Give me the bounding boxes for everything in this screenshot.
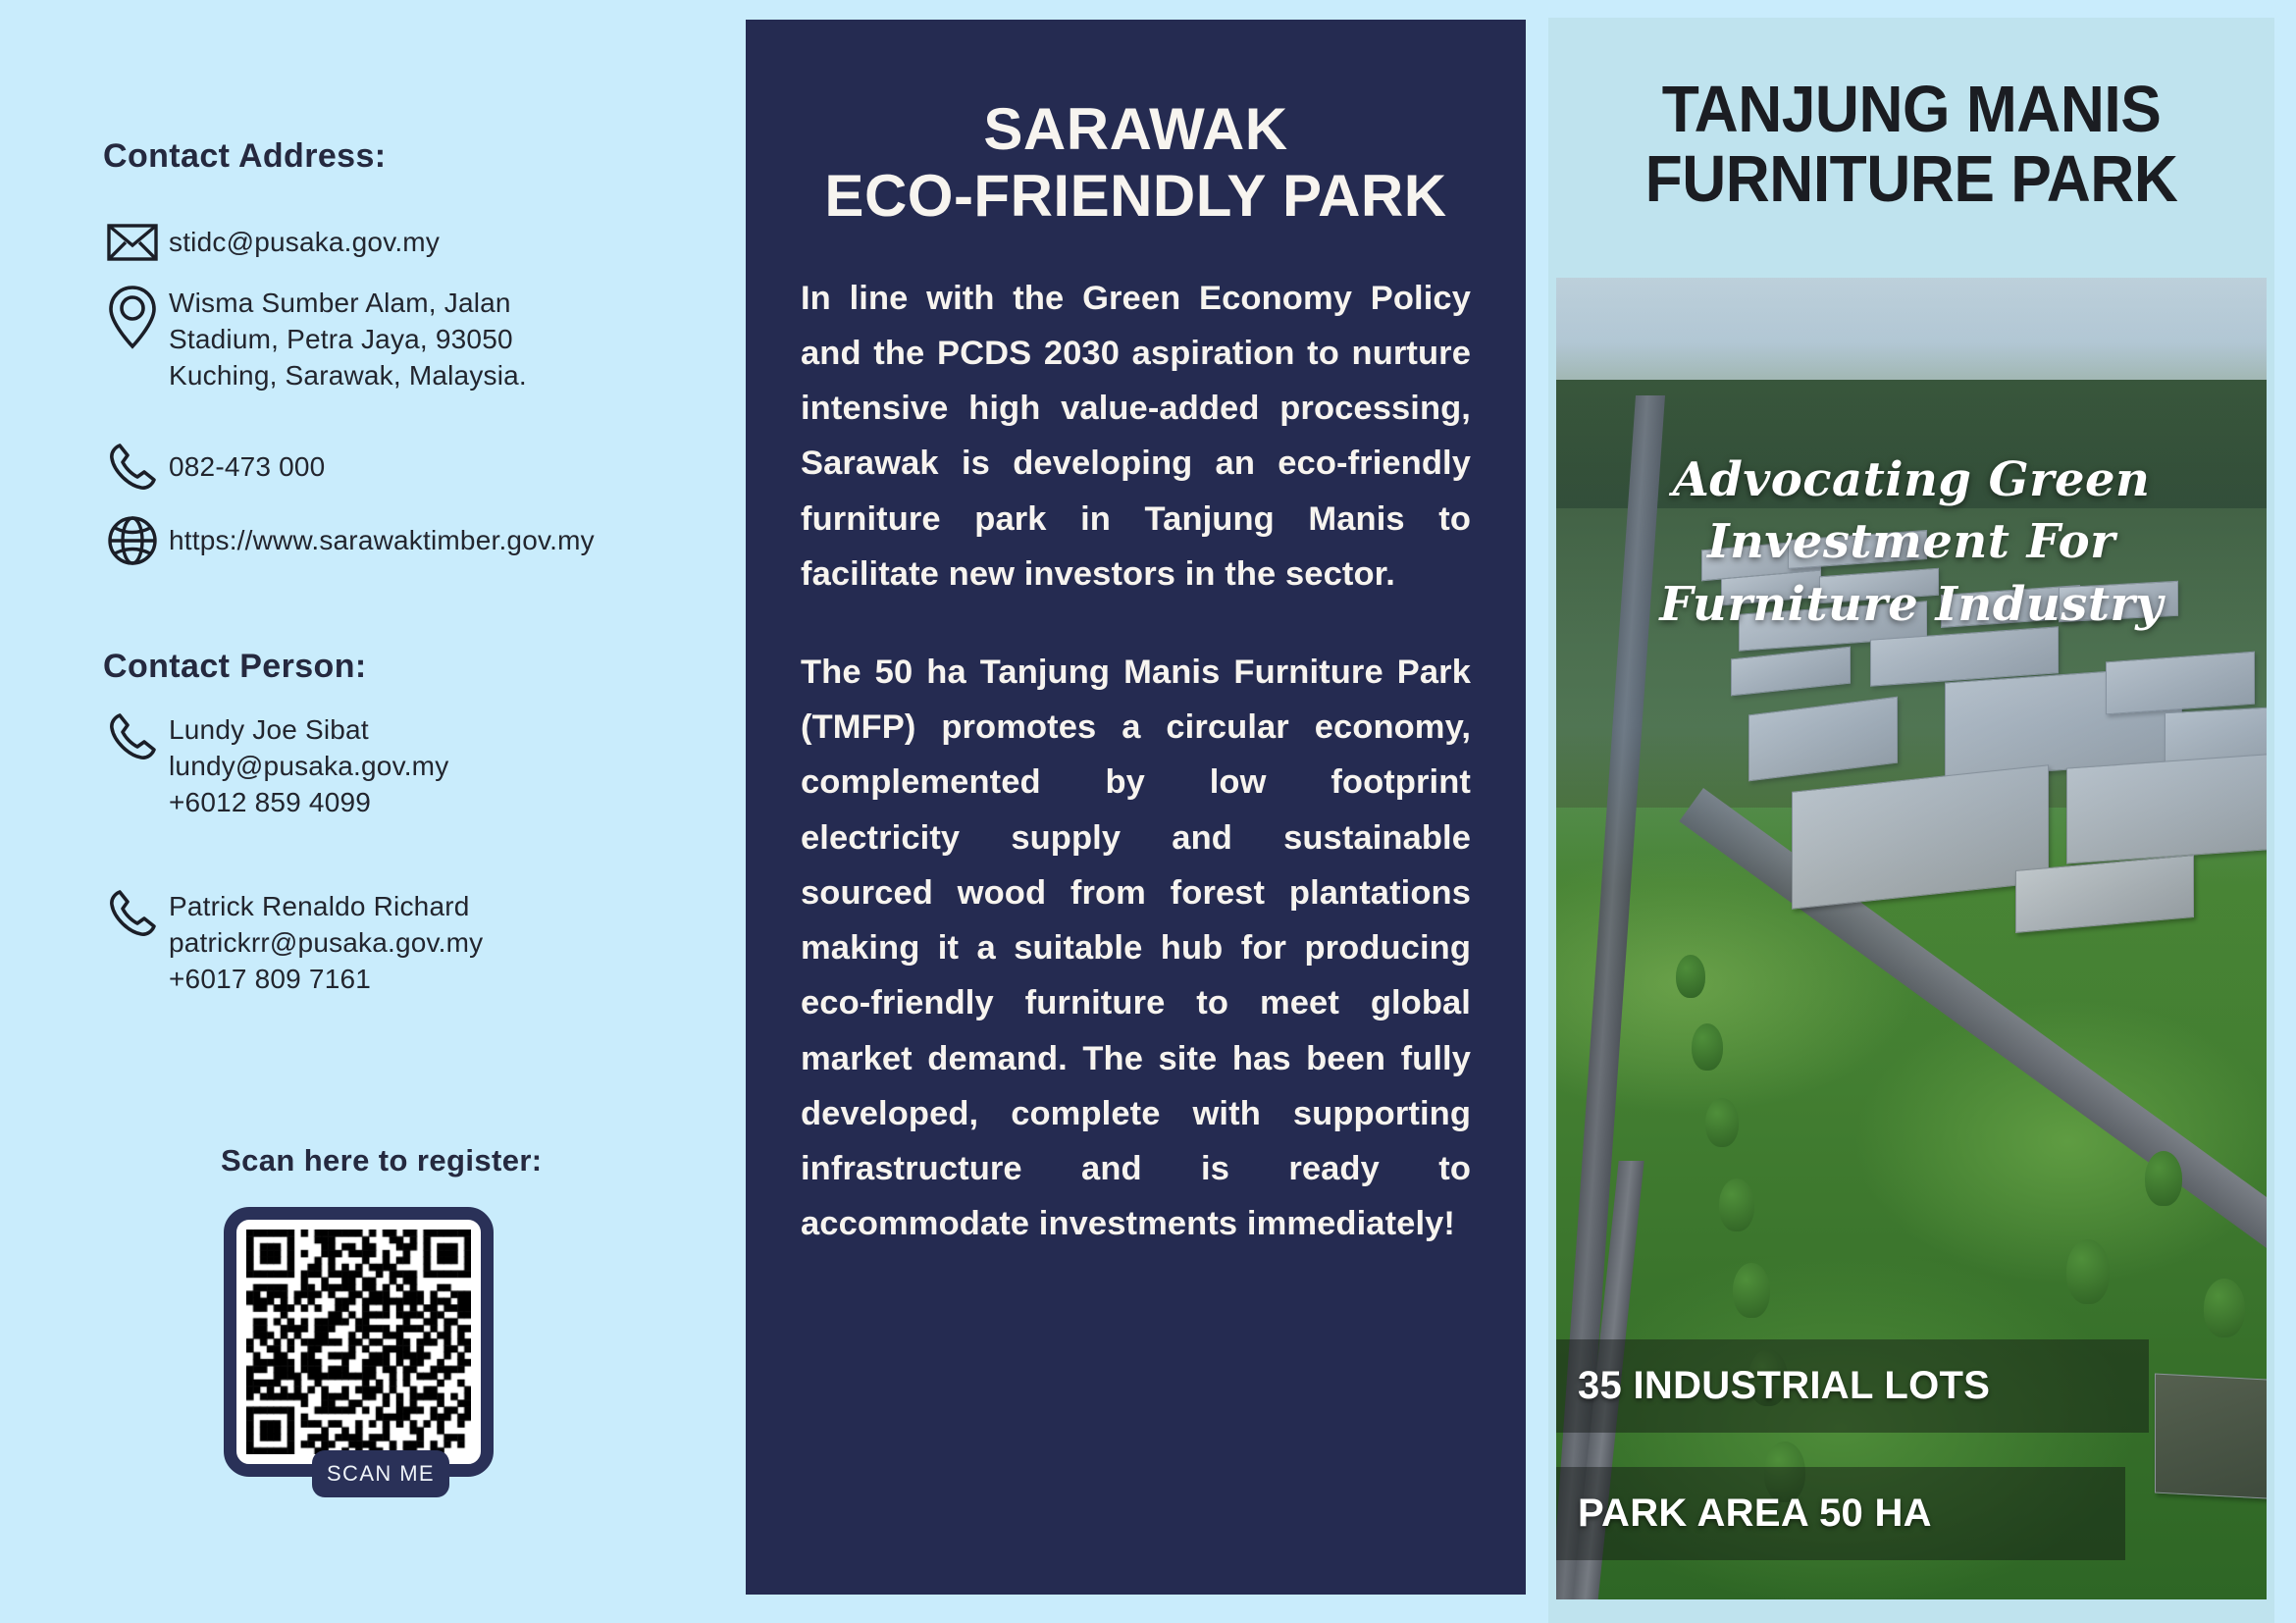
left-contact-panel: Contact Address: stidc@pusaka.gov.my (0, 0, 748, 1623)
contact-person-row[interactable]: Lundy Joe Sibat lundy@pusaka.gov.my +601… (96, 711, 448, 821)
contact-website-row[interactable]: https://www.sarawaktimber.gov.my (96, 515, 595, 566)
contact-phone-value: 082-473 000 (169, 448, 325, 485)
photo-sky (1556, 278, 2267, 395)
person-phone: +6012 859 4099 (169, 784, 448, 820)
right-title-line-2: FURNITURE PARK (1587, 144, 2236, 214)
photo-building (2106, 652, 2255, 715)
middle-paragraph-2: The 50 ha Tanjung Manis Furniture Park (… (801, 645, 1471, 1252)
qr-code-canvas (246, 1230, 471, 1454)
right-title-line-1: TANJUNG MANIS (1662, 73, 2162, 146)
photo-tree (1676, 955, 1705, 998)
middle-panel-title: SARAWAK ECO-FRIENDLY PARK (797, 96, 1475, 230)
phone-icon (96, 711, 169, 762)
phone-icon (96, 888, 169, 939)
badge-park-area: PARK AREA 50 HA (1556, 1467, 2125, 1560)
aerial-photo-industrial-park: Advocating Green Investment For Furnitur… (1556, 278, 2267, 1599)
address-line-3: Kuching, Sarawak, Malaysia. (169, 357, 640, 393)
contact-email-value: stidc@pusaka.gov.my (169, 224, 440, 260)
contact-email-row[interactable]: stidc@pusaka.gov.my (96, 224, 440, 261)
photo-tree (2066, 1239, 2110, 1304)
person-phone: +6017 809 7161 (169, 961, 483, 997)
right-panel-title: TANJUNG MANIS FURNITURE PARK (1574, 75, 2249, 214)
address-line-2: Stadium, Petra Jaya, 93050 (169, 321, 640, 357)
middle-title-line-2: ECO-FRIENDLY PARK (797, 163, 1475, 230)
contact-website-value: https://www.sarawaktimber.gov.my (169, 522, 595, 558)
brochure-page: Contact Address: stidc@pusaka.gov.my (0, 0, 2296, 1623)
map-pin-icon (96, 285, 169, 349)
right-hero-panel: TANJUNG MANIS FURNITURE PARK (1548, 18, 2274, 1623)
photo-tree (1733, 1263, 1770, 1318)
person-email: patrickrr@pusaka.gov.my (169, 924, 483, 961)
middle-paragraph-1: In line with the Green Economy Policy an… (801, 271, 1471, 602)
qr-code[interactable] (224, 1207, 494, 1477)
photo-tree (1705, 1098, 1739, 1147)
photo-tagline: Advocating Green Investment For Furnitur… (1556, 449, 2267, 636)
scan-me-badge: SCAN ME (312, 1450, 449, 1497)
photo-tree (1692, 1023, 1723, 1071)
contact-person-heading: Contact Person: (103, 648, 367, 686)
contact-address-heading: Contact Address: (103, 137, 387, 176)
tagline-line-2: Furniture Industry (1556, 574, 2267, 636)
middle-info-panel: SARAWAK ECO-FRIENDLY PARK In line with t… (746, 20, 1526, 1595)
contact-address-value: Wisma Sumber Alam, Jalan Stadium, Petra … (169, 285, 640, 394)
photo-tree (1719, 1178, 1754, 1231)
contact-person-row[interactable]: Patrick Renaldo Richard patrickrr@pusaka… (96, 888, 483, 998)
scan-here-heading: Scan here to register: (221, 1143, 543, 1178)
photo-tree (2145, 1151, 2182, 1206)
contact-phone-row[interactable]: 082-473 000 (96, 442, 325, 493)
middle-title-line-1: SARAWAK (983, 96, 1287, 162)
contact-address-row: Wisma Sumber Alam, Jalan Stadium, Petra … (96, 285, 640, 394)
address-line-1: Wisma Sumber Alam, Jalan (169, 285, 640, 321)
envelope-icon (96, 224, 169, 261)
contact-person-details: Patrick Renaldo Richard patrickrr@pusaka… (169, 888, 483, 998)
person-email: lundy@pusaka.gov.my (169, 748, 448, 784)
badge-industrial-lots: 35 INDUSTRIAL LOTS (1556, 1339, 2149, 1433)
photo-building (2155, 1374, 2267, 1500)
person-name: Patrick Renaldo Richard (169, 888, 483, 924)
person-name: Lundy Joe Sibat (169, 711, 448, 748)
photo-tree (2204, 1279, 2245, 1337)
phone-icon (96, 442, 169, 493)
photo-building (2066, 753, 2267, 864)
globe-icon (96, 515, 169, 566)
tagline-line-1: Advocating Green Investment For (1673, 452, 2151, 569)
contact-person-details: Lundy Joe Sibat lundy@pusaka.gov.my +601… (169, 711, 448, 821)
